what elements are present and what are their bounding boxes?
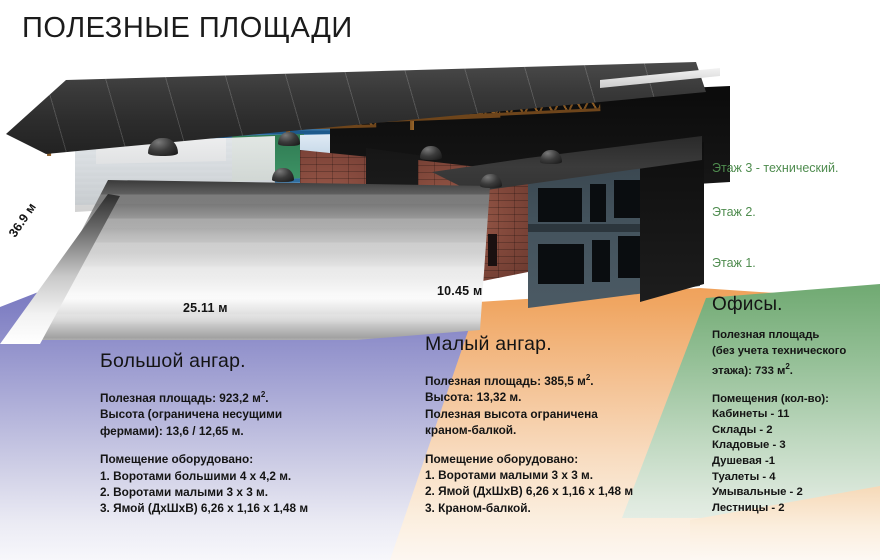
small-hangar-equipped-1: 1. Воротами малыми 3 х 3 м. bbox=[425, 467, 633, 483]
small-hangar-equipped-3: 3. Краном-балкой. bbox=[425, 500, 633, 516]
big-hangar-height-2: фермами): 13,6 / 12,65 м. bbox=[100, 423, 308, 439]
office-window bbox=[538, 188, 582, 222]
small-hangar-note-1: Полезная высота ограничена bbox=[425, 406, 633, 422]
dimension-label-small-hangar-width: 10.45 м bbox=[437, 284, 482, 298]
small-hangar-heading: Малый ангар. bbox=[425, 333, 633, 356]
offices-room-shower: Душевая -1 bbox=[712, 454, 846, 470]
office-window bbox=[538, 244, 584, 284]
floor-label-2: Этаж 2. bbox=[712, 205, 756, 219]
offices-rooms-heading: Помещения (кол-во): bbox=[712, 392, 846, 408]
big-hangar-equipped-3: 3. Ямой (ДхШхВ) 6,26 х 1,16 х 1,48 м bbox=[100, 500, 308, 516]
small-hangar-note-2: краном-балкой. bbox=[425, 422, 633, 438]
offices-heading: Офисы. bbox=[712, 294, 846, 316]
big-hangar-height-1: Высота (ограничена несущими bbox=[100, 406, 308, 422]
offices-room-warehouses: Склады - 2 bbox=[712, 423, 846, 439]
page-title: ПОЛЕЗНЫЕ ПЛОЩАДИ bbox=[22, 12, 353, 45]
offices-room-washrooms: Умывальные - 2 bbox=[712, 485, 846, 501]
poster-canvas: ПОЛЕЗНЫЕ ПЛОЩАДИ 36.9 м 25.11 м 10.45 м … bbox=[0, 0, 880, 560]
offices-area-1: Полезная площадь bbox=[712, 328, 846, 344]
floor-label-3: Этаж 3 - технический. bbox=[712, 161, 838, 175]
dome-lamp bbox=[540, 150, 562, 164]
offices-area-2: (без учета технического bbox=[712, 344, 846, 360]
big-hangar-info-block: Большой ангар. Полезная площадь: 923,2 м… bbox=[100, 350, 308, 517]
big-hangar-area: Полезная площадь: 923,2 м2. bbox=[100, 387, 308, 406]
brick-wall-opening bbox=[488, 234, 497, 266]
big-hangar-heading: Большой ангар. bbox=[100, 350, 308, 373]
big-hangar-equipped-2: 2. Воротами малыми 3 х 3 м. bbox=[100, 484, 308, 500]
small-hangar-area: Полезная площадь: 385,5 м2. bbox=[425, 370, 633, 389]
office-window bbox=[590, 184, 606, 222]
building-3d-render bbox=[0, 62, 730, 322]
office-window bbox=[592, 240, 610, 282]
offices-info-block: Офисы. Полезная площадь (без учета техни… bbox=[712, 294, 846, 516]
dimension-label-big-hangar-width: 25.11 м bbox=[183, 301, 228, 315]
offices-room-stairs: Лестницы - 2 bbox=[712, 501, 846, 517]
offices-room-toilets: Туалеты - 4 bbox=[712, 470, 846, 486]
dome-lamp bbox=[420, 146, 442, 160]
offices-room-cabinets: Кабинеты - 11 bbox=[712, 407, 846, 423]
floor-label-1: Этаж 1. bbox=[712, 256, 756, 270]
small-hangar-height: Высота: 13,32 м. bbox=[425, 389, 633, 405]
dome-lamp bbox=[278, 132, 300, 146]
big-hangar-equipped-1: 1. Воротами большими 4 x 4,2 м. bbox=[100, 468, 308, 484]
small-hangar-equipped-heading: Помещение оборудовано: bbox=[425, 451, 633, 467]
small-hangar-info-block: Малый ангар. Полезная площадь: 385,5 м2.… bbox=[425, 333, 633, 516]
offices-area-3: этажа): 733 м2. bbox=[712, 359, 846, 379]
small-hangar-equipped-2: 2. Ямой (ДхШхВ) 6,26 х 1,16 х 1,48 м bbox=[425, 483, 633, 499]
dome-lamp bbox=[272, 168, 294, 182]
offices-room-storerooms: Кладовые - 3 bbox=[712, 438, 846, 454]
dome-lamp bbox=[480, 174, 502, 188]
big-hangar-equipped-heading: Помещение оборудовано: bbox=[100, 451, 308, 467]
